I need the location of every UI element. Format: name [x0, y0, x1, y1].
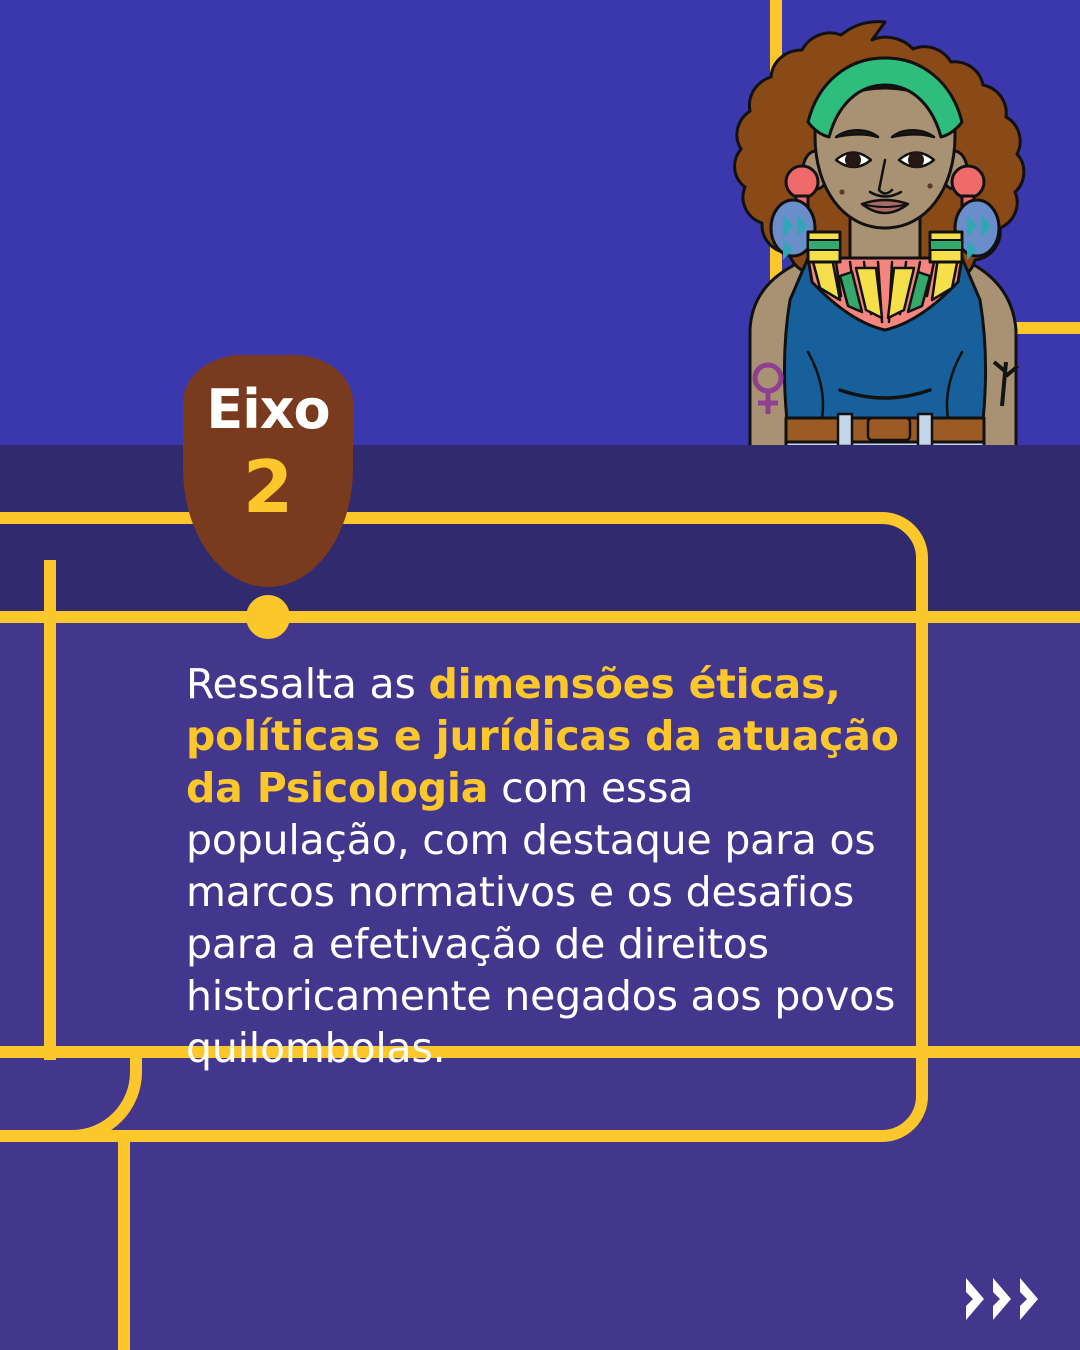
axis-badge-number: 2 [183, 451, 353, 523]
decor-vertical-line-left-lower [118, 1140, 130, 1350]
axis-badge-label: Eixo [183, 383, 353, 437]
chevron-right-triple-icon[interactable] [964, 1276, 1040, 1322]
quilombola-woman-illustration [690, 0, 1080, 445]
axis-badge: Eixo 2 [183, 355, 353, 587]
body-copy: Ressalta as dimensões éticas, políticas … [186, 658, 916, 1075]
chevron-right-icon [991, 1276, 1013, 1322]
poster-canvas: Eixo 2 Ressalta as dimensões éticas, pol… [0, 0, 1080, 1350]
decor-vertical-line-left-upper [44, 560, 56, 1060]
chevron-right-icon [1018, 1276, 1040, 1322]
decor-horizontal-line-middle [0, 611, 1080, 623]
timeline-node-dot [246, 595, 290, 639]
body-copy-lead: Ressalta as [186, 660, 428, 708]
background-band-footer [0, 1177, 1080, 1350]
chevron-right-icon [964, 1276, 986, 1322]
